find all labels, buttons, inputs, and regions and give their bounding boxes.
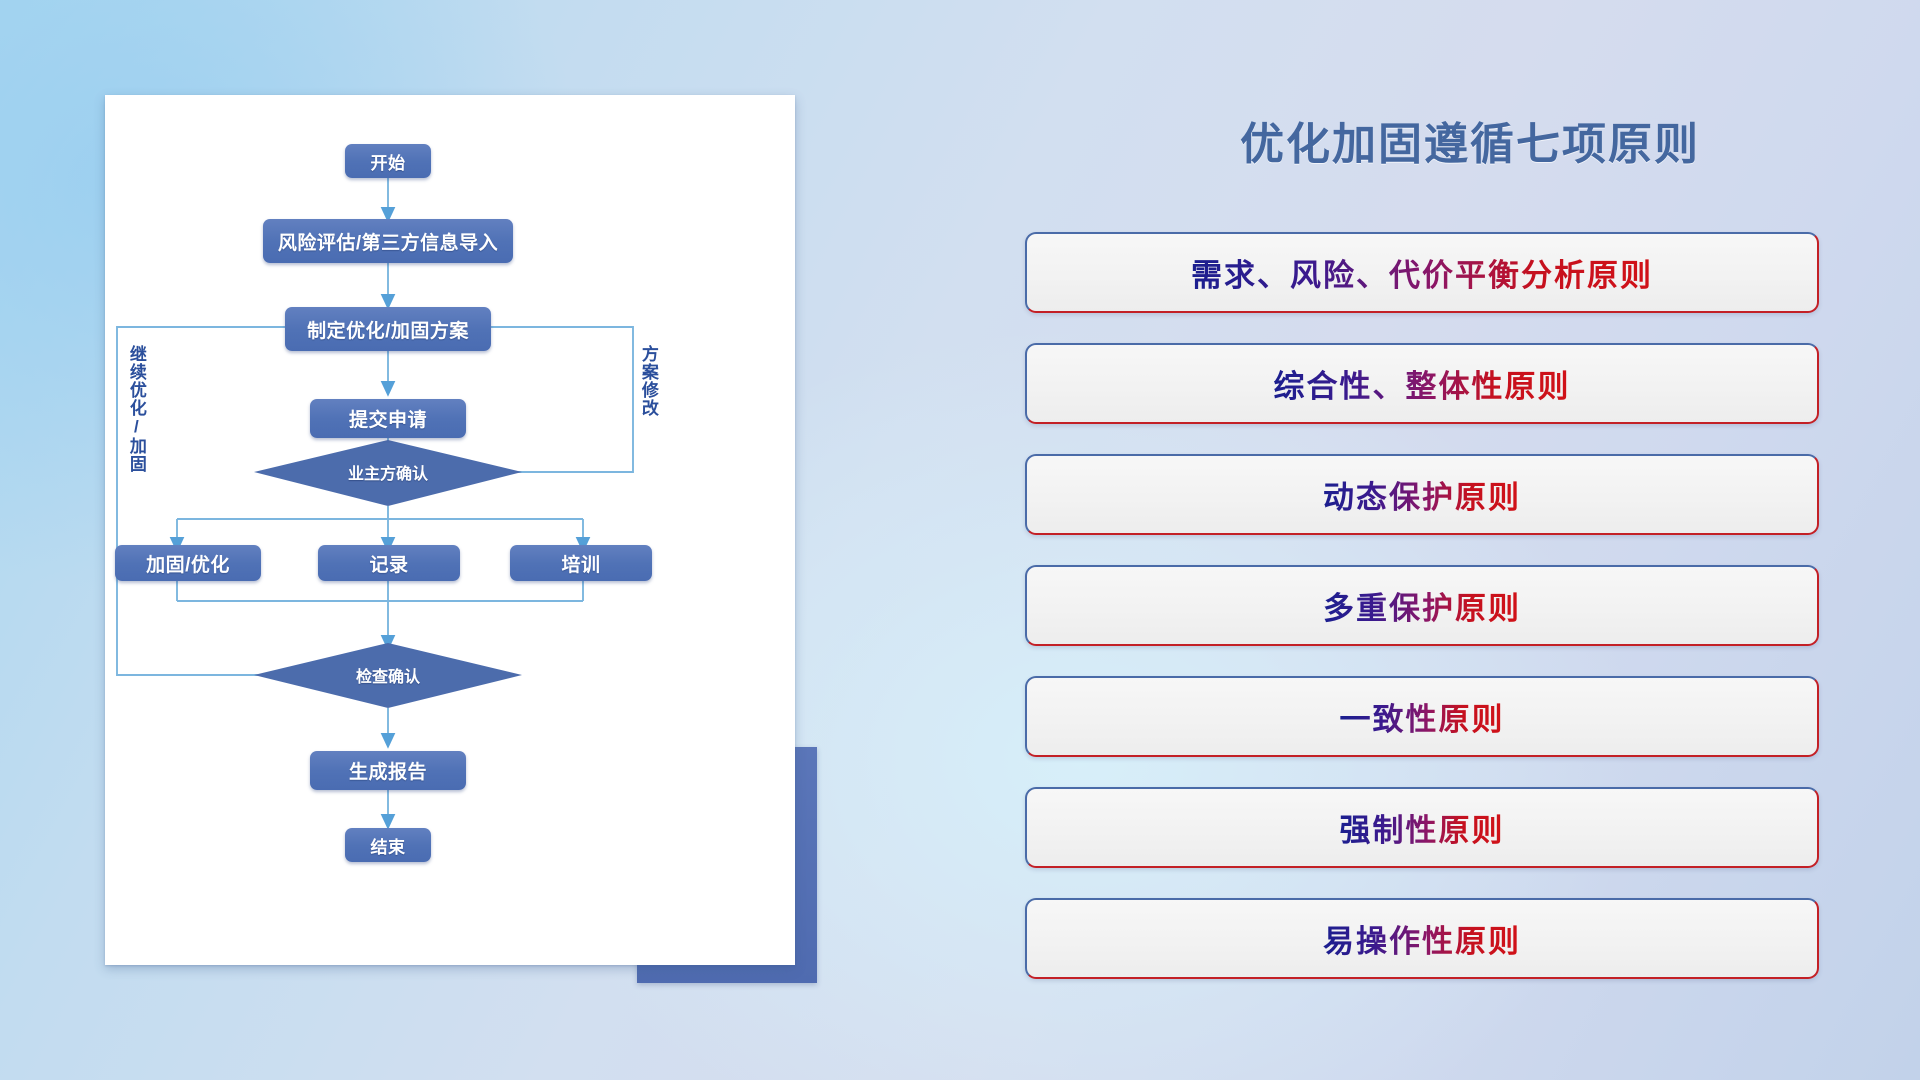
principle-card-3[interactable]: 动态保护原则 (1025, 454, 1819, 535)
node-generate-report[interactable]: 生成报告 (310, 751, 466, 790)
principle-label-3: 动态保护原则 (1323, 472, 1521, 517)
principle-label-6: 强制性原则 (1340, 805, 1505, 850)
principle-card-2[interactable]: 综合性、整体性原则 (1025, 343, 1819, 424)
node-check-confirm[interactable]: 检查确认 (318, 661, 458, 689)
principle-label-5: 一致性原则 (1340, 694, 1505, 739)
principle-card-1[interactable]: 需求、风险、代价平衡分析原则 (1025, 232, 1819, 313)
node-end[interactable]: 结束 (345, 828, 431, 862)
principle-label-4: 多重保护原则 (1323, 583, 1521, 628)
node-risk-assessment[interactable]: 风险评估/第三方信息导入 (263, 219, 513, 263)
node-reinforce-optimize[interactable]: 加固/优化 (115, 545, 261, 581)
node-start[interactable]: 开始 (345, 144, 431, 178)
principle-card-4[interactable]: 多重保护原则 (1025, 565, 1819, 646)
edge-label-continue-optimize: 继续优化/加固 (127, 345, 145, 473)
principles-panel: 优化加固遵循七项原则 需求、风险、代价平衡分析原则 综合性、整体性原则 动态保护… (1010, 0, 1920, 1080)
principle-label-7: 易操作性原则 (1323, 916, 1521, 961)
node-submit-application[interactable]: 提交申请 (310, 399, 466, 438)
edge-label-plan-revision: 方案修改 (639, 345, 657, 417)
slide-canvas: 开始 风险评估/第三方信息导入 制定优化/加固方案 提交申请 业主方确认 加固/… (0, 0, 1920, 1080)
principle-card-7[interactable]: 易操作性原则 (1025, 898, 1819, 979)
principle-card-6[interactable]: 强制性原则 (1025, 787, 1819, 868)
node-make-plan[interactable]: 制定优化/加固方案 (285, 307, 491, 351)
node-training[interactable]: 培训 (510, 545, 652, 581)
principle-card-5[interactable]: 一致性原则 (1025, 676, 1819, 757)
node-owner-confirm[interactable]: 业主方确认 (318, 458, 458, 486)
principle-label-1: 需求、风险、代价平衡分析原则 (1191, 250, 1653, 295)
flowchart-panel: 开始 风险评估/第三方信息导入 制定优化/加固方案 提交申请 业主方确认 加固/… (0, 0, 860, 1080)
principle-label-2: 综合性、整体性原则 (1274, 361, 1571, 406)
flowchart-card: 开始 风险评估/第三方信息导入 制定优化/加固方案 提交申请 业主方确认 加固/… (105, 95, 795, 965)
principles-title: 优化加固遵循七项原则 (1130, 108, 1810, 172)
node-record[interactable]: 记录 (318, 545, 460, 581)
